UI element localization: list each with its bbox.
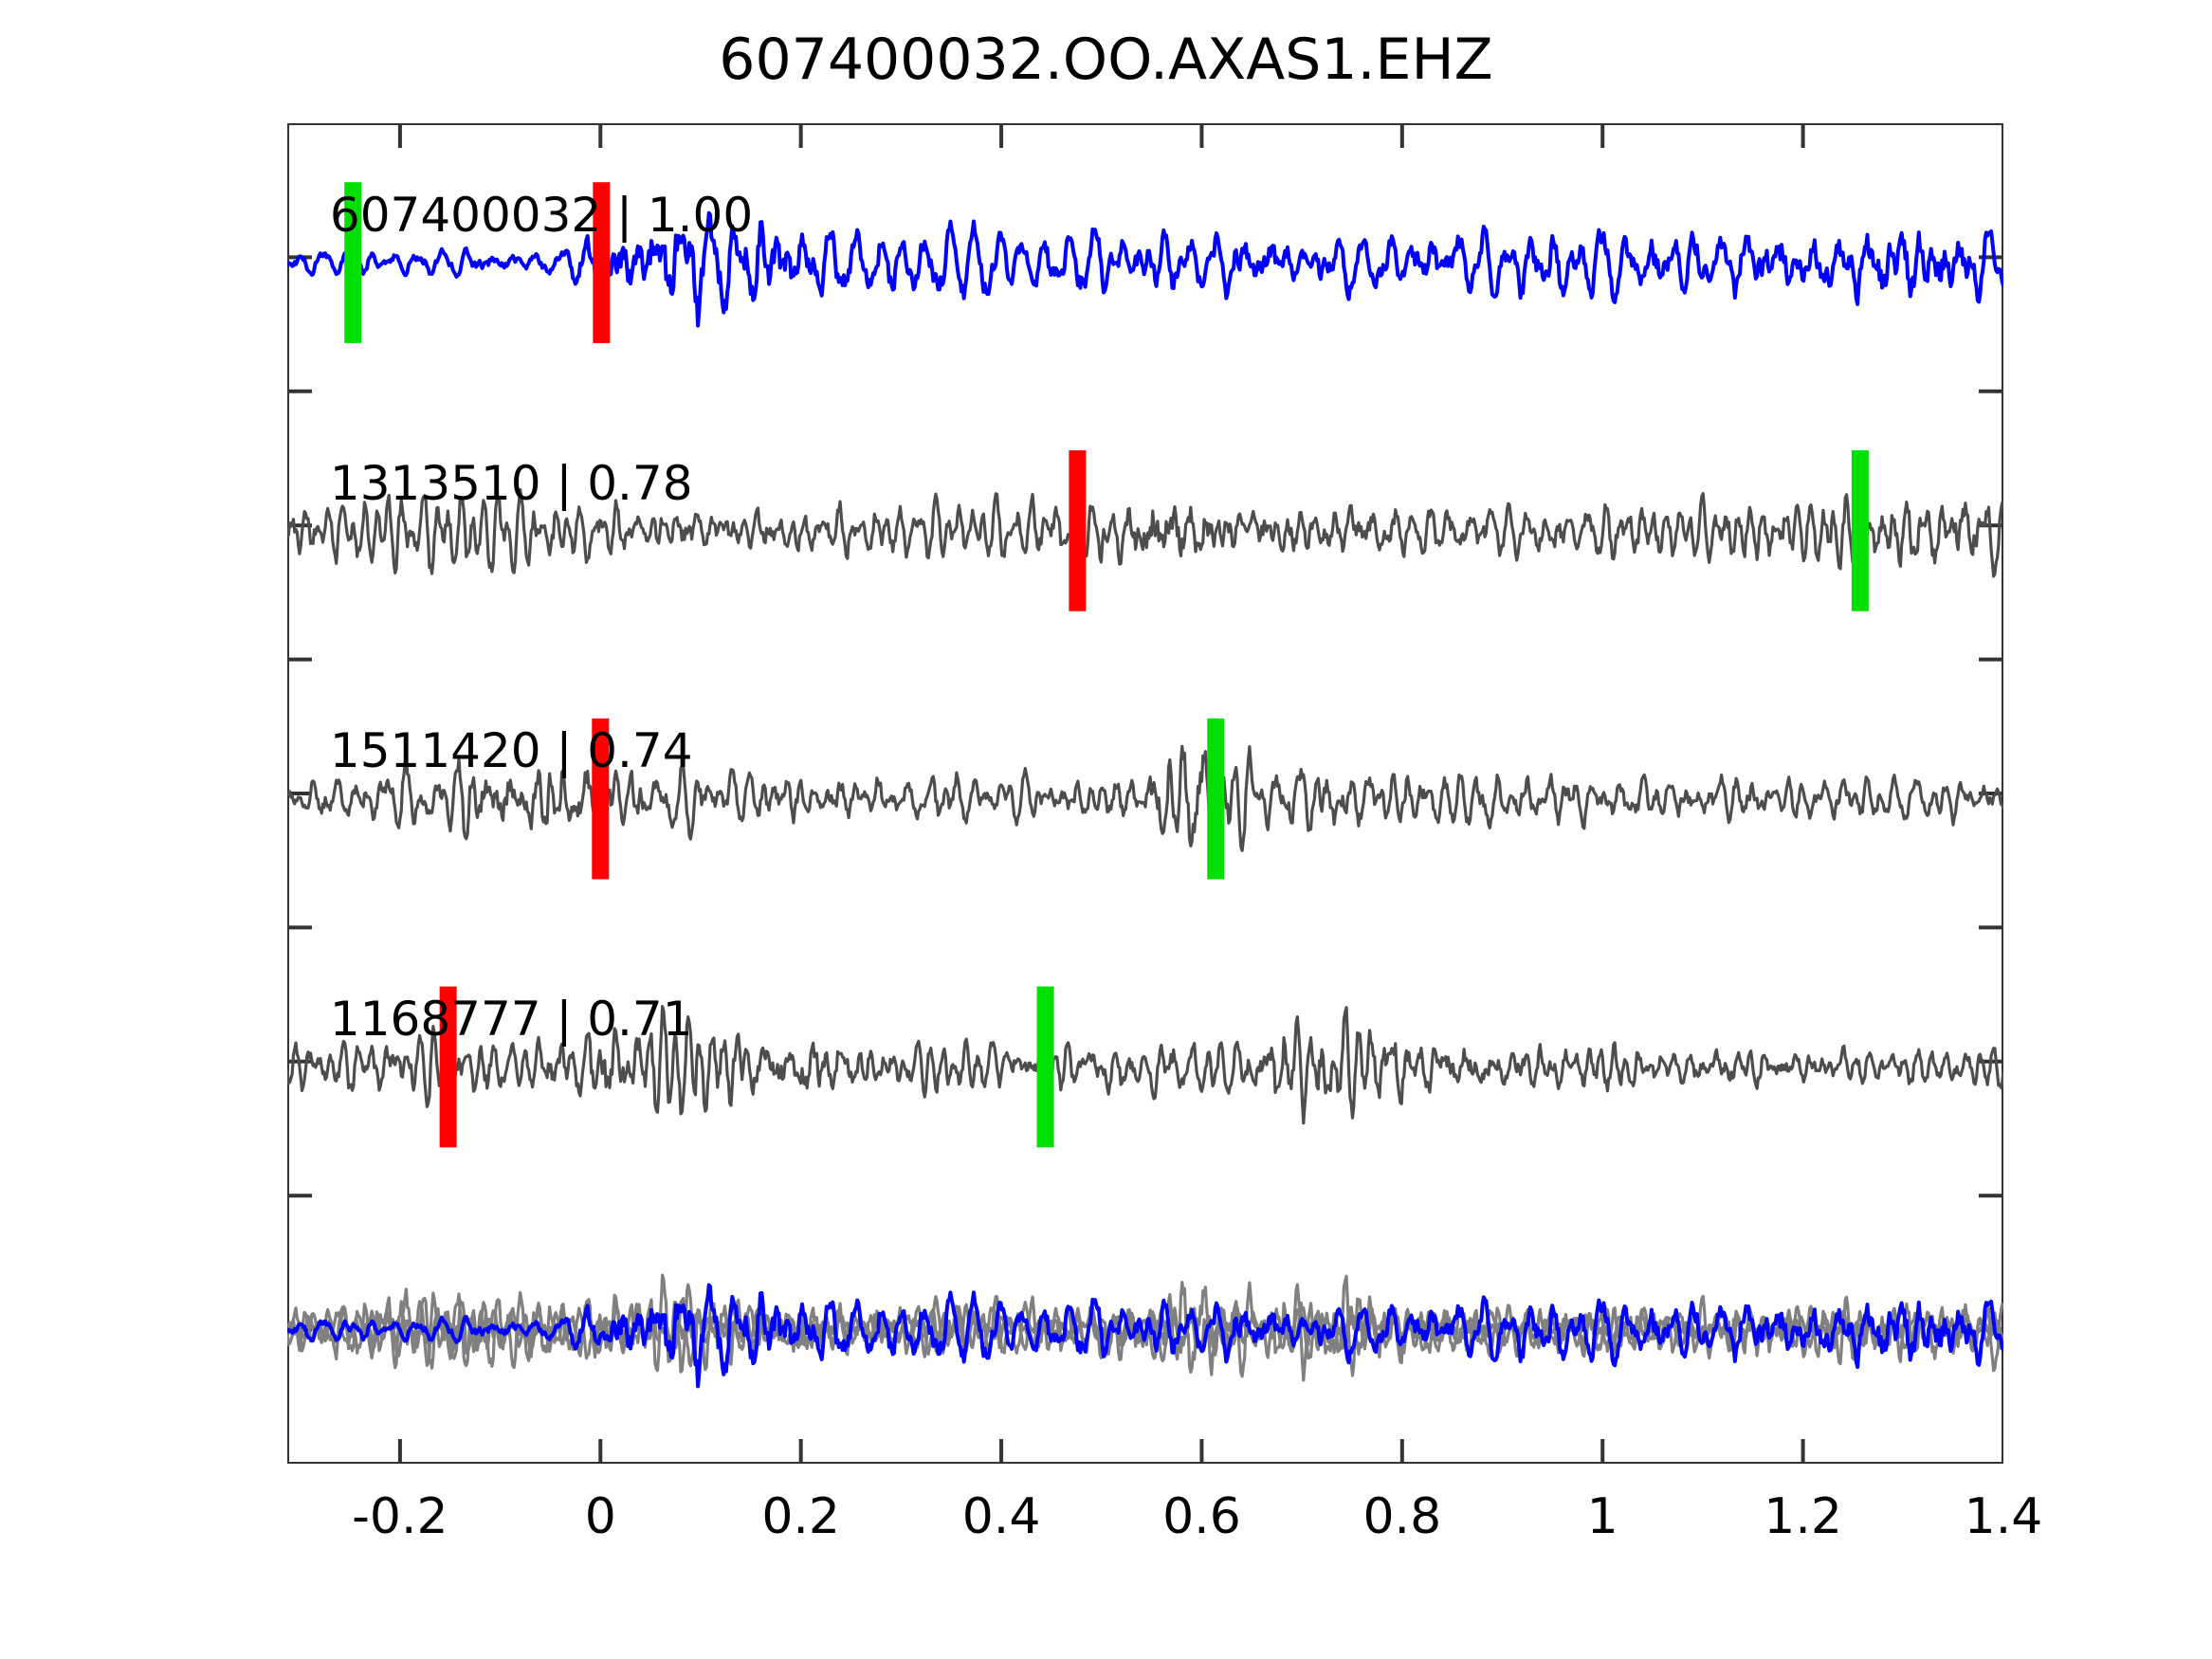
x-tick-label: -0.2 xyxy=(352,1488,448,1545)
plot-area: 607400032 | 1.001313510 | 0.781511420 | … xyxy=(287,123,2003,1464)
overlay-panel xyxy=(287,1275,2003,1386)
waveform-canvas xyxy=(287,123,2003,1464)
x-tick-label: 0.4 xyxy=(962,1488,1041,1545)
x-tick-label: 1.4 xyxy=(1965,1488,2043,1545)
x-tick-label: 0.6 xyxy=(1162,1488,1241,1545)
x-axis-tick-labels: -0.200.20.40.60.811.21.4 xyxy=(287,1488,2003,1555)
trace-label-1313510: 1313510 | 0.78 xyxy=(330,456,693,511)
x-tick-label: 1.2 xyxy=(1764,1488,1842,1545)
s-pick-marker[interactable] xyxy=(1037,987,1054,1148)
x-tick-label: 0 xyxy=(585,1488,616,1545)
trace-label-1168777: 1168777 | 0.71 xyxy=(330,992,693,1047)
page-title: 607400032.OO.AXAS1.EHZ xyxy=(0,27,2212,93)
x-tick-label: 1 xyxy=(1587,1488,1618,1545)
s-pick-marker[interactable] xyxy=(1852,450,1869,611)
s-pick-marker[interactable] xyxy=(1207,719,1224,880)
trace-label-607400032: 607400032 | 1.00 xyxy=(330,188,753,243)
x-tick-label: 0.2 xyxy=(761,1488,840,1545)
x-tick-label: 0.8 xyxy=(1362,1488,1441,1545)
seismogram-figure: 607400032.OO.AXAS1.EHZ 607400032 | 1.001… xyxy=(0,0,2212,1659)
trace-label-1511420: 1511420 | 0.74 xyxy=(330,723,693,778)
p-pick-marker[interactable] xyxy=(1069,450,1086,611)
